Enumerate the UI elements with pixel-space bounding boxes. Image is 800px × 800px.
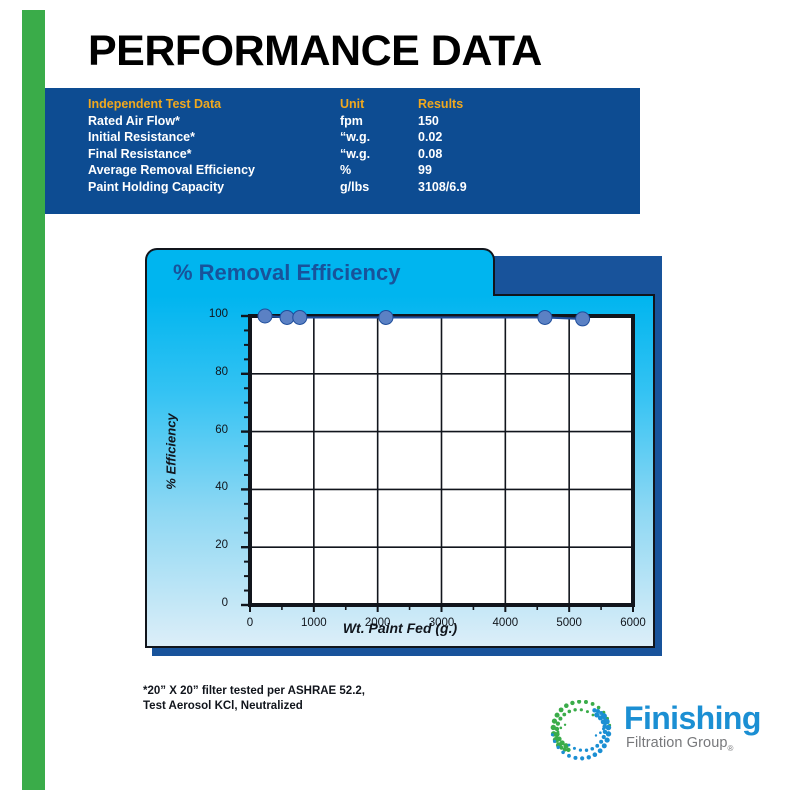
spec-result: 3108/6.9 — [418, 179, 538, 196]
footnote-line-2: Test Aerosol KCl, Neutralized — [143, 699, 365, 714]
spec-result: 99 — [418, 162, 538, 179]
x-tick-label: 0 — [227, 617, 273, 629]
table-row: Rated Air Flow* fpm 150 — [88, 113, 538, 130]
spec-header-results: Results — [418, 96, 538, 113]
y-tick-label: 40 — [194, 481, 228, 493]
spec-table-header-row: Independent Test Data Unit Results — [88, 96, 538, 113]
x-tick-label: 3000 — [419, 617, 465, 629]
registered-mark-icon: ® — [728, 744, 734, 753]
chart-ylabel: % Efficiency — [164, 382, 179, 522]
spec-unit: “w.g. — [340, 129, 418, 146]
y-tick-label: 0 — [194, 597, 228, 609]
performance-data-sheet: PERFORMANCE DATA Independent Test Data U… — [0, 0, 800, 800]
swirl-dots-icon — [536, 700, 620, 762]
company-logo: Finishing Filtration Group® — [536, 700, 786, 762]
chart-card: % Removal Efficiency % Efficiency Wt. Pa… — [145, 248, 655, 648]
spec-result: 0.08 — [418, 146, 538, 163]
x-tick-label: 1000 — [291, 617, 337, 629]
spec-header-unit: Unit — [340, 96, 418, 113]
spec-name: Rated Air Flow* — [88, 113, 340, 130]
x-tick-label: 5000 — [546, 617, 592, 629]
spec-unit: % — [340, 162, 418, 179]
y-tick-label: 20 — [194, 539, 228, 551]
y-tick-label: 60 — [194, 424, 228, 436]
spec-unit: “w.g. — [340, 146, 418, 163]
x-tick-label: 6000 — [610, 617, 656, 629]
y-tick-label: 100 — [194, 308, 228, 320]
spec-table: Independent Test Data Unit Results Rated… — [88, 96, 538, 195]
spec-unit: fpm — [340, 113, 418, 130]
chart-title: % Removal Efficiency — [173, 260, 400, 286]
spec-name: Initial Resistance* — [88, 129, 340, 146]
table-row: Paint Holding Capacity g/lbs 3108/6.9 — [88, 179, 538, 196]
y-tick-label: 80 — [194, 366, 228, 378]
spec-unit: g/lbs — [340, 179, 418, 196]
x-tick-label: 4000 — [482, 617, 528, 629]
spec-name: Paint Holding Capacity — [88, 179, 340, 196]
spec-name: Average Removal Efficiency — [88, 162, 340, 179]
green-accent-bar — [22, 10, 45, 790]
logo-subtitle-text: Filtration Group — [626, 735, 728, 751]
logo-subtitle: Filtration Group® — [626, 736, 734, 753]
table-row: Average Removal Efficiency % 99 — [88, 162, 538, 179]
logo-wordmark: Finishing — [624, 702, 761, 734]
spec-result: 0.02 — [418, 129, 538, 146]
chart-plot-area: % Efficiency Wt. Paint Fed (g.) 02040608… — [145, 248, 655, 648]
table-row: Initial Resistance* “w.g. 0.02 — [88, 129, 538, 146]
spec-name: Final Resistance* — [88, 146, 340, 163]
x-tick-label: 2000 — [355, 617, 401, 629]
footnote-line-1: *20” X 20” filter tested per ASHRAE 52.2… — [143, 684, 365, 699]
spec-header-name: Independent Test Data — [88, 96, 340, 113]
footnote: *20” X 20” filter tested per ASHRAE 52.2… — [143, 684, 365, 714]
page-title: PERFORMANCE DATA — [88, 30, 542, 73]
table-row: Final Resistance* “w.g. 0.08 — [88, 146, 538, 163]
spec-result: 150 — [418, 113, 538, 130]
